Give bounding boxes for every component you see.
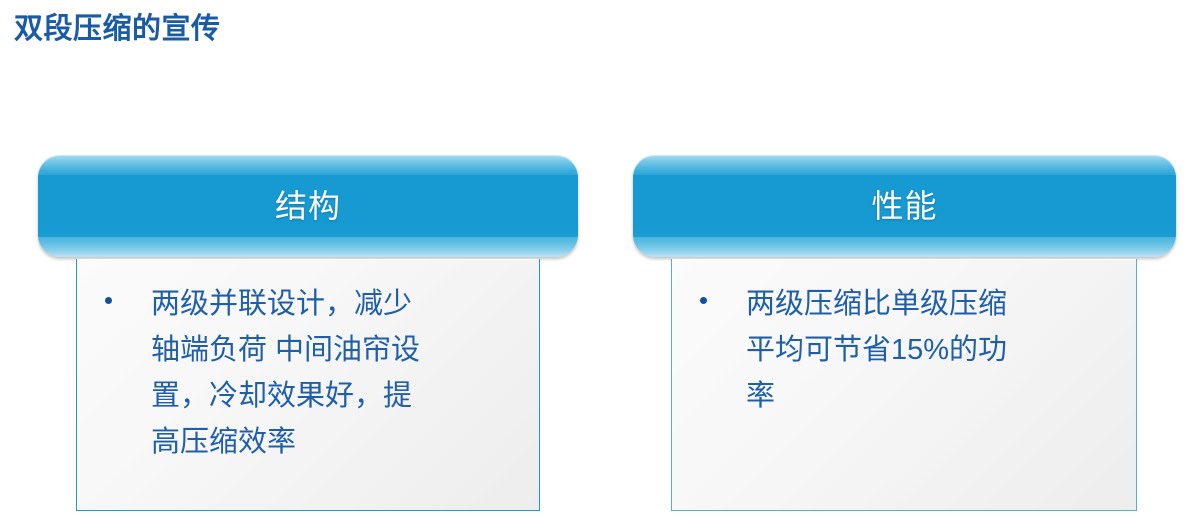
- list-item: 两级压缩比单级压缩 平均可节省15%的功 率: [700, 281, 1118, 419]
- card-performance: 性能 两级压缩比单级压缩 平均可节省15%的功 率: [633, 155, 1176, 257]
- card-header-structure[interactable]: 结构: [38, 155, 578, 257]
- bullet-text: 两级并联设计，减少 轴端负荷 中间油帘设 置，冷却效果好，提 高压缩效率: [151, 281, 521, 465]
- card-header-label: 结构: [275, 190, 341, 222]
- bullet-text: 两级压缩比单级压缩 平均可节省15%的功 率: [746, 281, 1118, 419]
- bullet-dot-icon: [700, 297, 707, 304]
- list-item: 两级并联设计，减少 轴端负荷 中间油帘设 置，冷却效果好，提 高压缩效率: [105, 281, 521, 465]
- card-body-structure: 两级并联设计，减少 轴端负荷 中间油帘设 置，冷却效果好，提 高压缩效率: [76, 259, 540, 511]
- card-header-performance[interactable]: 性能: [633, 155, 1176, 257]
- card-structure: 结构 两级并联设计，减少 轴端负荷 中间油帘设 置，冷却效果好，提 高压缩效率: [38, 155, 578, 257]
- bullet-dot-icon: [105, 297, 112, 304]
- slide-canvas: 双段压缩的宣传 结构 两级并联设计，减少 轴端负荷 中间油帘设 置，冷却效果好，…: [0, 0, 1200, 531]
- page-title: 双段压缩的宣传: [14, 12, 221, 47]
- card-header-label: 性能: [871, 190, 937, 222]
- card-body-performance: 两级压缩比单级压缩 平均可节省15%的功 率: [671, 259, 1137, 511]
